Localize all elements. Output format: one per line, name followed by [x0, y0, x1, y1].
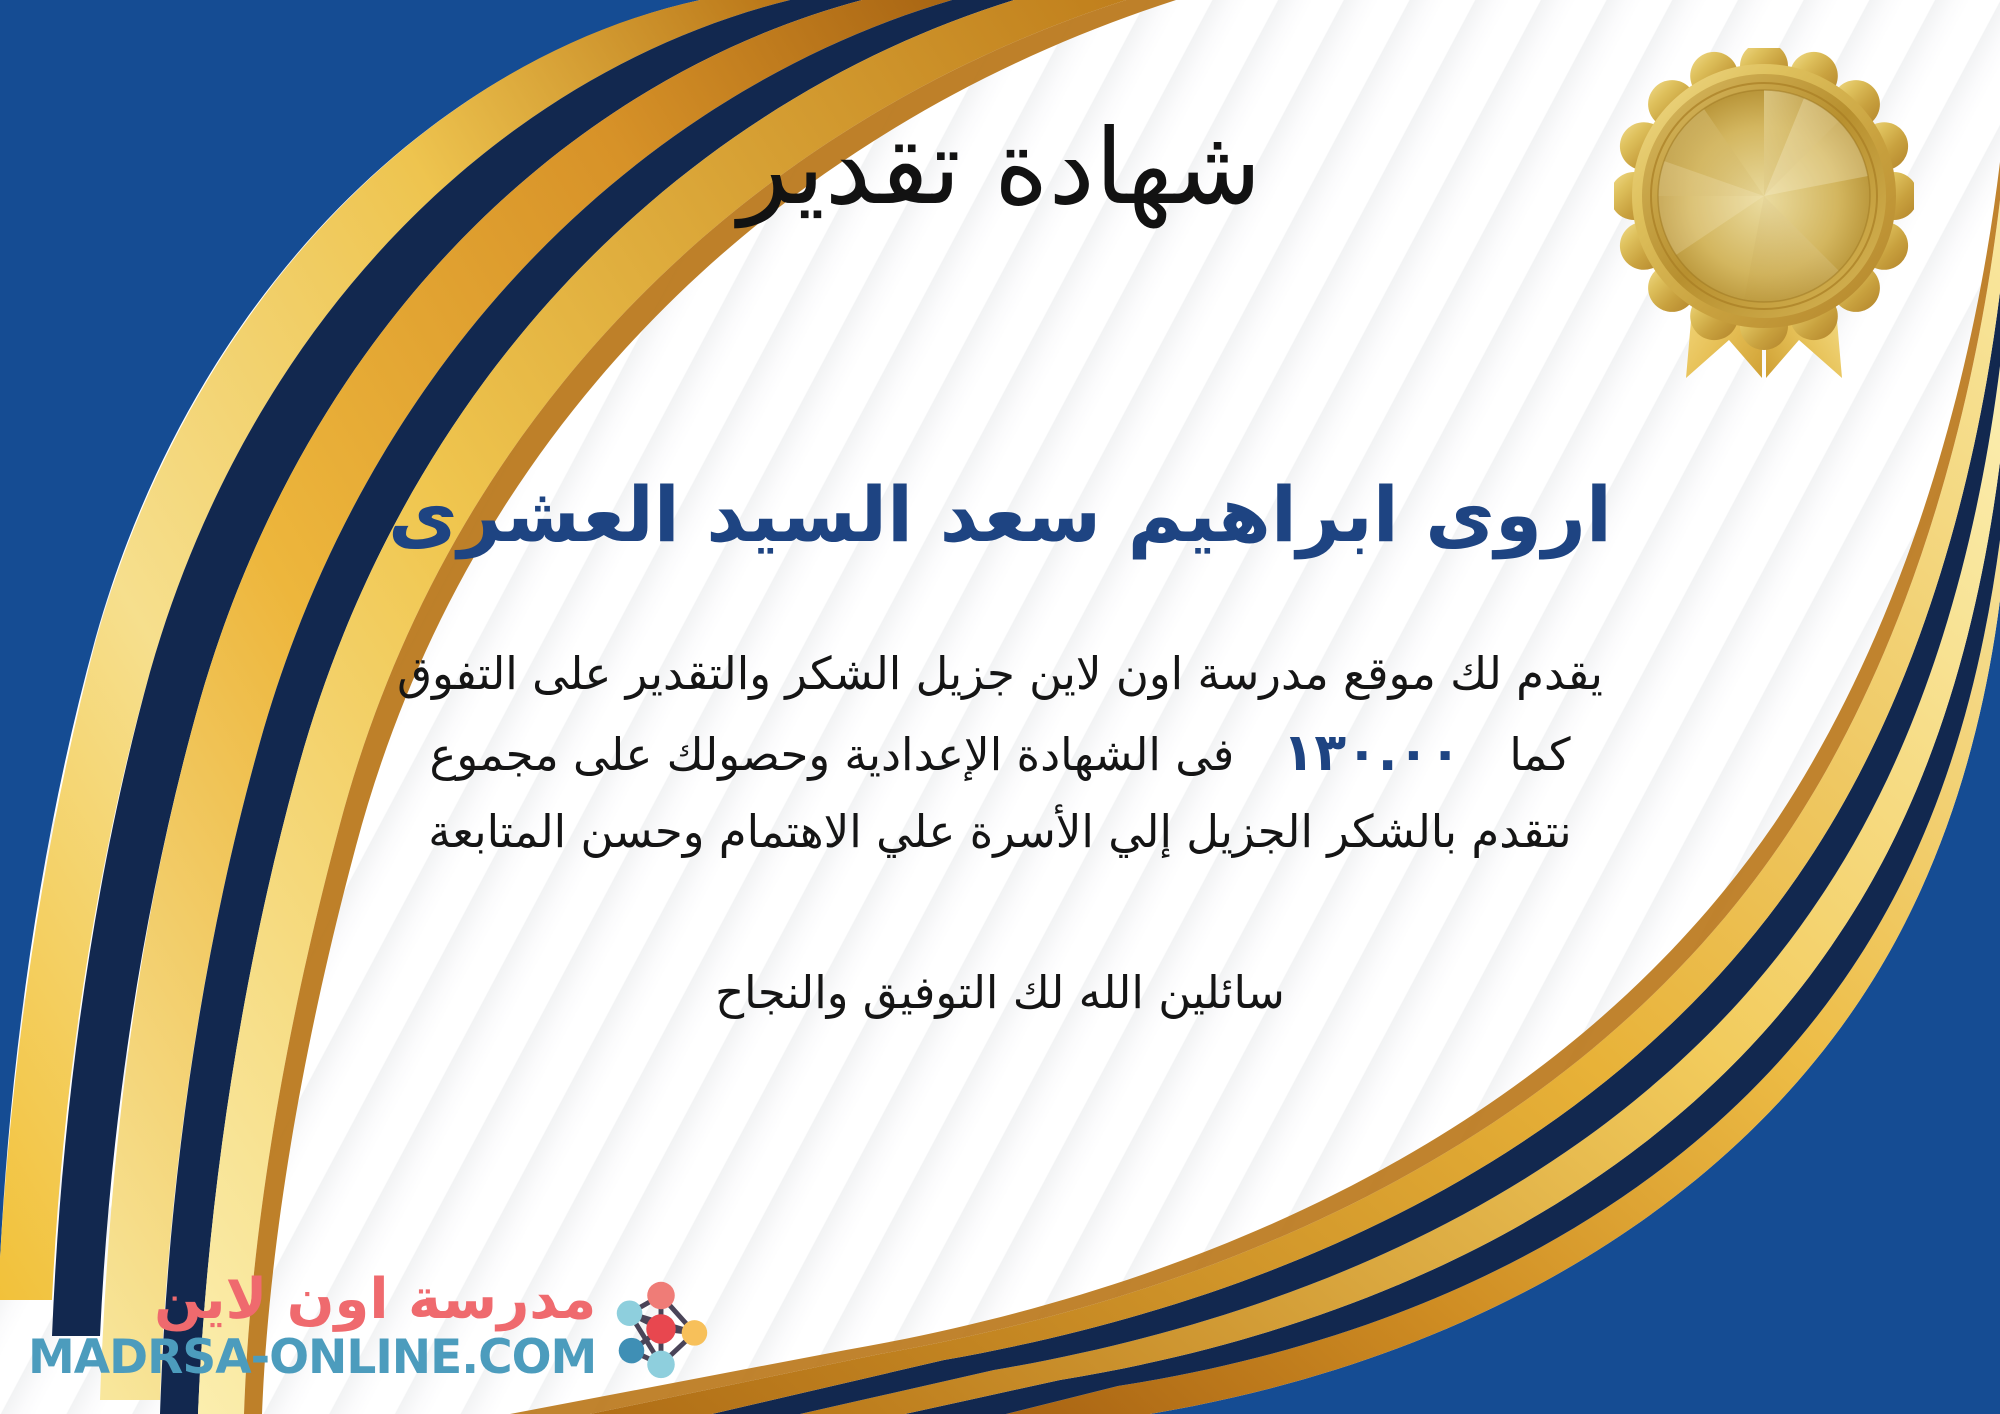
- brand-logo[interactable]: مدرسة اون لاين MADRSA-ONLINE.COM: [28, 1268, 720, 1386]
- gold-award-rosette-icon: [1614, 48, 1914, 378]
- closing-blessing-line: سائلين الله لك التوفيق والنجاح: [0, 958, 2000, 1028]
- recipient-name: اروى ابراهيم سعد السيد العشرى: [0, 469, 2000, 560]
- brand-website-url: MADRSA-ONLINE.COM: [28, 1332, 596, 1384]
- body-line-3: نتقدم بالشكر الجزيل إلي الأسرة علي الاهت…: [100, 796, 1900, 869]
- network-nodes-icon: [602, 1268, 720, 1386]
- brand-logo-text: مدرسة اون لاين MADRSA-ONLINE.COM: [28, 1271, 596, 1383]
- brand-name-arabic: مدرسة اون لاين: [154, 1271, 596, 1330]
- body-line-2-suffix: فى الشهادة الإعدادية وحصولك على مجموع: [429, 728, 1234, 781]
- body-line-2-prefix: كما: [1509, 728, 1570, 781]
- body-line-1: يقدم لك موقع مدرسة اون لاين جزيل الشكر و…: [100, 638, 1900, 711]
- body-line-2: كما ١٣٠.٠٠ فى الشهادة الإعدادية وحصولك ع…: [100, 711, 1900, 795]
- certificate-body-text: يقدم لك موقع مدرسة اون لاين جزيل الشكر و…: [60, 638, 1940, 868]
- grade-total-value: ١٣٠.٠٠: [1249, 723, 1495, 783]
- certificate-canvas: شهادة تقدير اروى ابراهيم سعد السيد العشر…: [0, 0, 2000, 1414]
